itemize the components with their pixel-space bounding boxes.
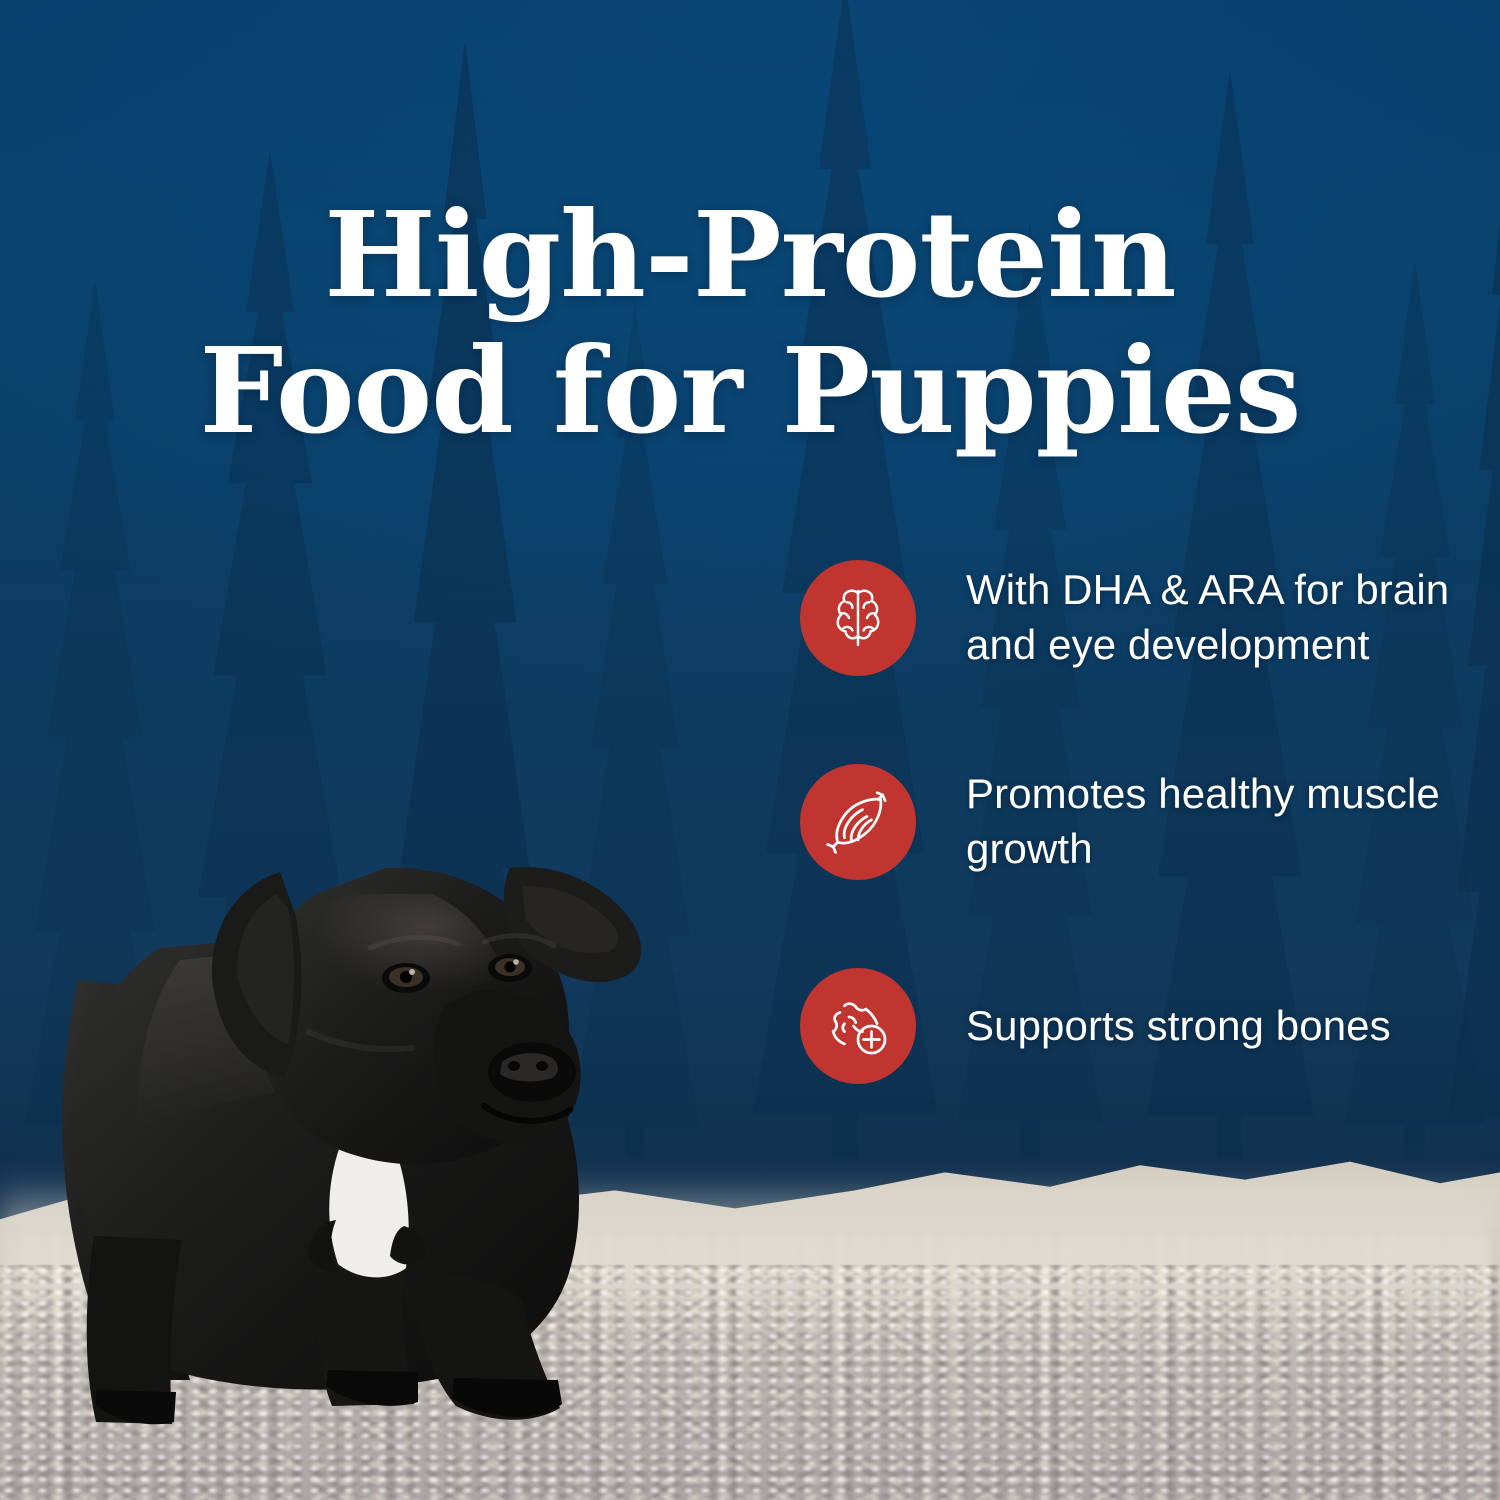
brain-icon bbox=[822, 582, 894, 654]
feature-item: Promotes healthy muscle growth bbox=[800, 764, 1460, 880]
bone-joint-plus-icon bbox=[822, 990, 894, 1062]
muscle-icon bbox=[822, 786, 894, 858]
headline-line-1: High-Protein bbox=[0, 183, 1500, 327]
feature-list: With DHA & ARA for brain and eye develop… bbox=[800, 560, 1460, 1084]
feature-badge bbox=[800, 560, 916, 676]
feature-badge bbox=[800, 968, 916, 1084]
feature-item: With DHA & ARA for brain and eye develop… bbox=[800, 560, 1460, 676]
headline-line-2: Food for Puppies bbox=[0, 319, 1500, 463]
feature-label: With DHA & ARA for brain and eye develop… bbox=[966, 563, 1460, 672]
puppy-photo bbox=[40, 680, 660, 1440]
feature-label: Supports strong bones bbox=[966, 999, 1391, 1054]
feature-label: Promotes healthy muscle growth bbox=[966, 767, 1460, 876]
page-title: High-Protein Food for Puppies bbox=[0, 183, 1500, 463]
promo-banner: High-Protein Food for Puppies bbox=[0, 0, 1500, 1500]
feature-item: Supports strong bones bbox=[800, 968, 1460, 1084]
feature-badge bbox=[800, 764, 916, 880]
